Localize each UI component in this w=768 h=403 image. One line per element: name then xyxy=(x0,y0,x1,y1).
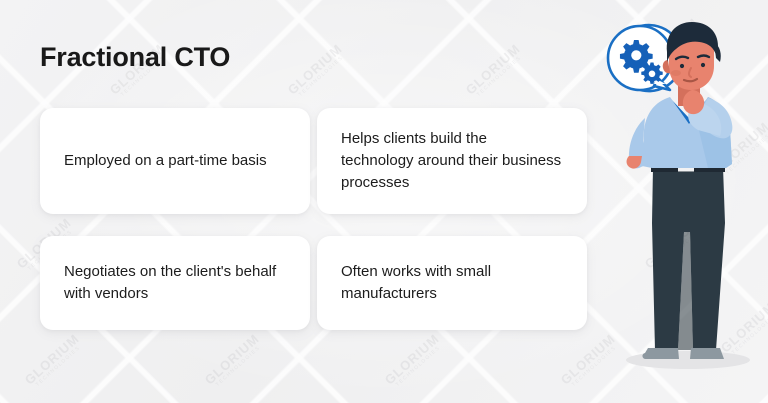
feature-card[interactable]: Employed on a part-time basis xyxy=(40,108,310,214)
feature-card-text: Negotiates on the client's behalf with v… xyxy=(64,261,286,305)
eye-left xyxy=(680,64,684,68)
slide-root: GLORIUM TECHNOLOGIES GLORIUM TECHNOLOGIE… xyxy=(0,0,768,403)
feature-card-grid: Employed on a part-time basis Helps clie… xyxy=(40,108,587,330)
thinking-businessman-illustration xyxy=(596,18,768,388)
feature-card[interactable]: Negotiates on the client's behalf with v… xyxy=(40,236,310,330)
eye-right xyxy=(701,63,705,67)
shoe-right xyxy=(690,348,724,359)
feature-card-text: Often works with small manufacturers xyxy=(341,261,563,305)
feature-card-text: Helps clients build the technology aroun… xyxy=(341,128,563,193)
feature-card[interactable]: Often works with small manufacturers xyxy=(317,236,587,330)
page-title: Fractional CTO xyxy=(40,42,230,73)
cheek-blush xyxy=(671,70,681,76)
shoe-left xyxy=(642,348,679,359)
feature-card[interactable]: Helps clients build the technology aroun… xyxy=(317,108,587,214)
feature-card-text: Employed on a part-time basis xyxy=(64,150,267,172)
